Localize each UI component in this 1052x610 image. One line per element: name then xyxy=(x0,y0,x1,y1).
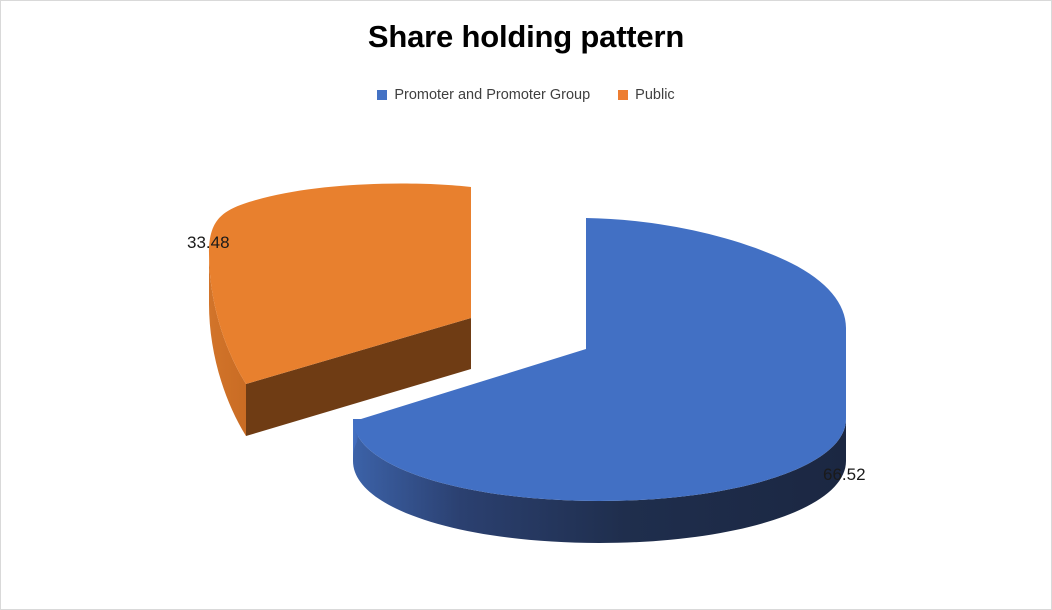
data-label-promoter: 66.52 xyxy=(823,465,866,485)
data-label-public: 33.48 xyxy=(187,233,230,253)
chart-container: Share holding pattern Promoter and Promo… xyxy=(0,0,1052,610)
pie-chart-graphic xyxy=(1,1,1052,610)
